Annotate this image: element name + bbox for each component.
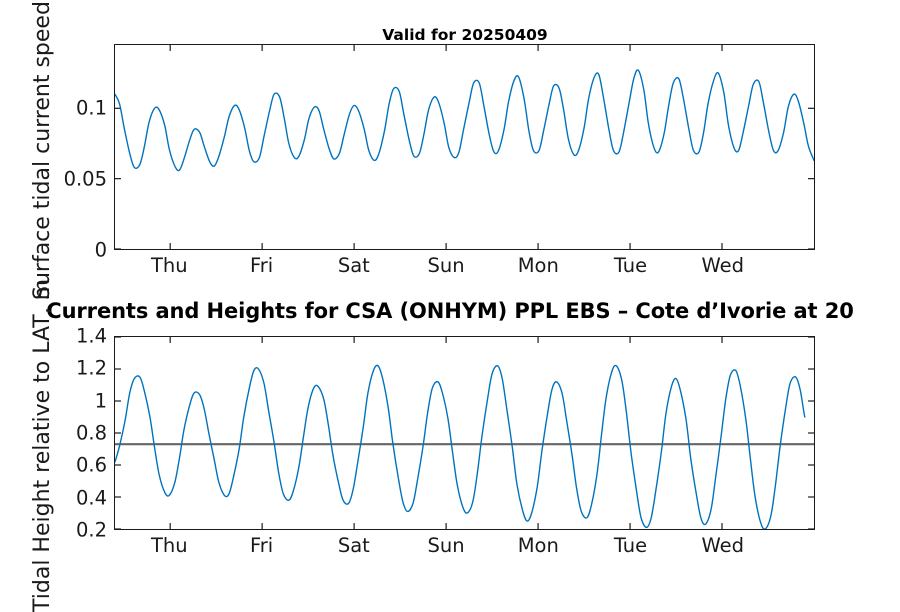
- top-panel-xtick-layer: ThuFriSatSunMonTueWed: [0, 256, 900, 282]
- series-line: [115, 365, 805, 529]
- x-tick-label: Wed: [701, 536, 744, 556]
- top-panel-title: Valid for 20250409: [382, 26, 547, 44]
- y-tick-label: 1.4: [76, 326, 114, 346]
- y-tick-label: 0.4: [76, 488, 114, 508]
- x-tick-label: Sun: [427, 256, 464, 276]
- tidal-figure: Valid for 20250409 Surface tidal current…: [0, 0, 900, 600]
- y-tick-label: 1: [95, 391, 114, 411]
- figure-title: Currents and Heights for CSA (ONHYM) PPL…: [46, 299, 853, 323]
- x-tick-label: Tue: [614, 536, 647, 556]
- bottom-panel-axes: [114, 336, 815, 530]
- x-tick-label: Mon: [518, 536, 559, 556]
- bottom-panel-xtick-layer: ThuFriSatSunMonTueWed: [0, 536, 900, 562]
- y-tick-label: 0.1: [76, 98, 114, 118]
- x-tick-label: Tue: [614, 256, 647, 276]
- x-tick-label: Wed: [701, 256, 744, 276]
- top-panel-ytick-layer: 00.050.1: [0, 44, 114, 250]
- x-tick-label: Thu: [151, 256, 188, 276]
- series-line: [115, 70, 814, 171]
- x-tick-label: Sat: [338, 256, 370, 276]
- top-panel-axes: [114, 44, 815, 250]
- x-tick-label: Fri: [250, 256, 273, 276]
- x-tick-label: Mon: [518, 256, 559, 276]
- x-tick-label: Sun: [427, 536, 464, 556]
- y-tick-label: 0.6: [76, 456, 114, 476]
- bottom-panel-ytick-layer: 0.20.40.60.811.21.4: [0, 336, 114, 530]
- y-tick-label: 1.2: [76, 359, 114, 379]
- y-tick-label: 0.8: [76, 423, 114, 443]
- x-tick-label: Sat: [338, 536, 370, 556]
- top-panel-plot: [115, 45, 814, 249]
- bottom-panel-plot: [115, 337, 814, 529]
- x-tick-label: Fri: [250, 536, 273, 556]
- x-tick-label: Thu: [151, 536, 188, 556]
- y-tick-label: 0.05: [64, 169, 114, 189]
